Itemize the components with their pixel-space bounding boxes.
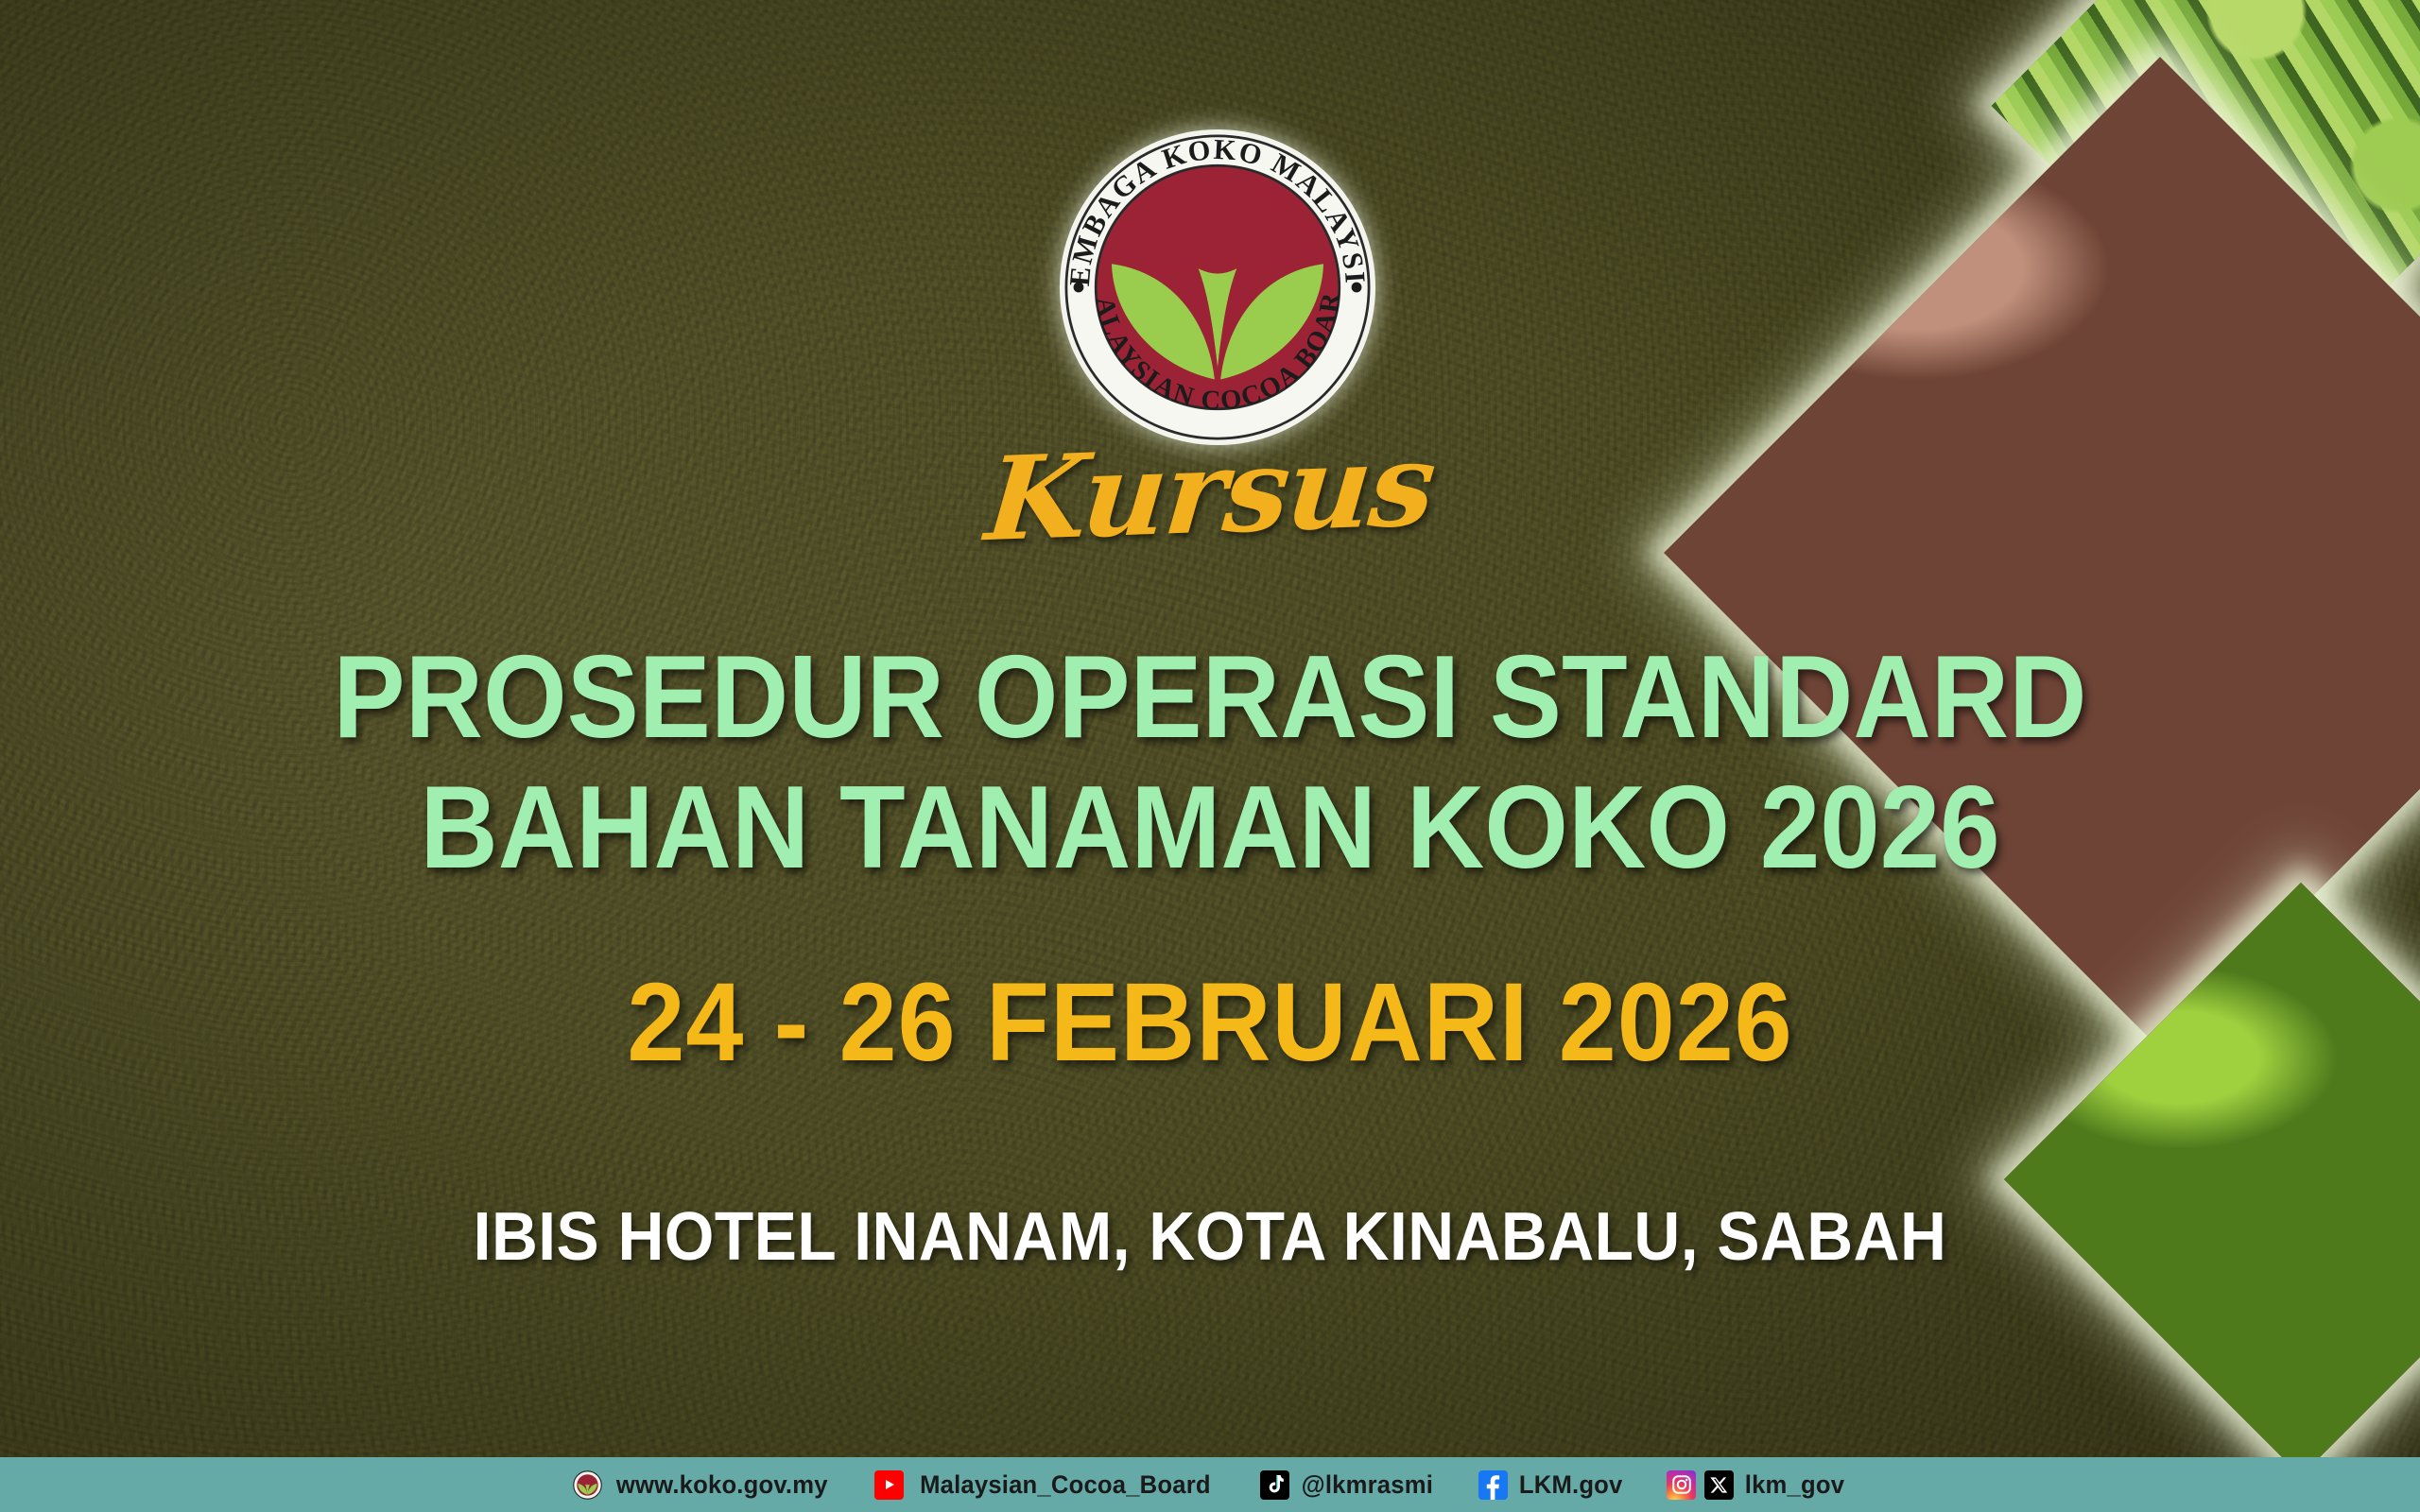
eyebrow-text: Kursus (981, 416, 1440, 567)
footer-label-tiktok: @lkmrasmi (1302, 1470, 1433, 1500)
footer-label-instagram-x: lkm_gov (1745, 1470, 1844, 1500)
facebook-icon (1478, 1470, 1508, 1500)
page-title-line-1: PROSEDUR OPERASI STANDARD (96, 639, 2323, 756)
footer-label-facebook: LKM.gov (1519, 1470, 1623, 1500)
instagram-icon (1667, 1470, 1696, 1500)
malaysian-cocoa-board-logo: LEMBAGA KOKO MALAYSIA MALAYSIAN COCOA BO… (1053, 123, 1382, 452)
footer-social-bar: www.koko.gov.my Malaysian_Cocoa_Board @l… (0, 1457, 2420, 1512)
footer-label-website: www.koko.gov.my (616, 1470, 828, 1500)
footer-item-youtube[interactable]: Malaysian_Cocoa_Board (874, 1470, 1219, 1500)
page-title-line-2: BAHAN TANAMAN KOKO 2026 (96, 769, 2323, 886)
footer-item-website[interactable]: www.koko.gov.my (573, 1470, 834, 1500)
footer-item-instagram-x[interactable]: lkm_gov (1667, 1470, 1847, 1500)
footer-label-youtube: Malaysian_Cocoa_Board (920, 1470, 1211, 1500)
event-poster: LEMBAGA KOKO MALAYSIA MALAYSIAN COCOA BO… (0, 0, 2420, 1512)
eyebrow-kursus: Kursus (0, 423, 2420, 559)
x-twitter-icon (1704, 1470, 1734, 1500)
koko-logo-icon (573, 1470, 602, 1500)
tiktok-icon (1260, 1470, 1289, 1500)
footer-item-tiktok[interactable]: @lkmrasmi (1260, 1470, 1437, 1500)
event-venue: IBIS HOTEL INANAM, KOTA KINABALU, SABAH (73, 1198, 2347, 1276)
footer-item-facebook[interactable]: LKM.gov (1478, 1470, 1625, 1500)
youtube-icon (874, 1470, 904, 1500)
event-dates: 24 - 26 FEBRUARI 2026 (85, 958, 2336, 1087)
